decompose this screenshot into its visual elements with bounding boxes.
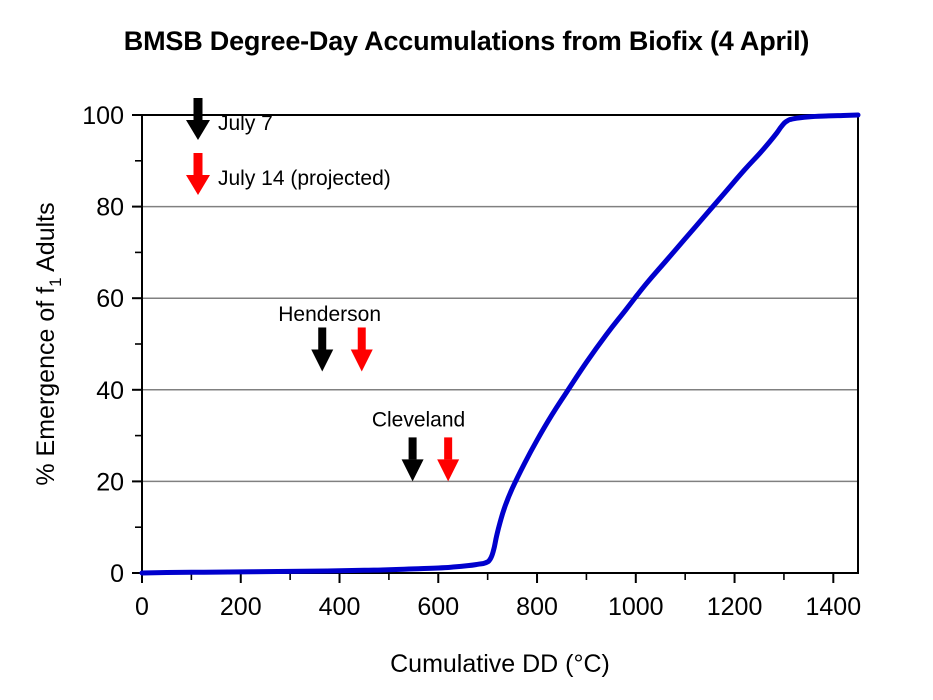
y-tick-label: 40: [96, 377, 124, 405]
x-tick-label: 1000: [608, 593, 664, 621]
annotation-arrow-henderson-red-shaft: [358, 327, 366, 349]
annotation-arrow-henderson-red-head: [351, 349, 373, 371]
y-tick-label: 0: [110, 560, 124, 588]
annotation-arrow-cleveland-black-shaft: [409, 437, 417, 459]
annotation-arrow-cleveland-black: [402, 437, 424, 481]
y-tick-label: 60: [96, 285, 124, 313]
legend-arrow-july-14-head: [186, 175, 210, 195]
y-axis-title: % Emergence of f1 Adults: [32, 202, 65, 485]
y-axis-title-post: Adults: [32, 202, 60, 277]
x-axis-ticks: [142, 573, 833, 583]
x-tick-label: 600: [417, 593, 459, 621]
y-tick-label: 80: [96, 194, 124, 222]
annotation-arrow-cleveland-black-head: [402, 459, 424, 481]
x-tick-label: 400: [319, 593, 361, 621]
y-axis-title-subscript: 1: [46, 277, 65, 286]
x-tick-label: 200: [220, 593, 262, 621]
legend-arrow-july-14: [186, 153, 210, 195]
y-tick-label: 100: [82, 102, 124, 130]
y-axis-title-pre: % Emergence of f: [32, 287, 60, 486]
legend-arrow-july-7-head: [186, 120, 210, 140]
gridlines: [142, 207, 858, 482]
annotation-arrow-henderson-black-head: [311, 349, 333, 371]
chart-container: BMSB Degree-Day Accumulations from Biofi…: [0, 0, 933, 700]
legend-arrow-july-7-shaft: [194, 98, 203, 120]
x-tick-label: 1400: [805, 593, 861, 621]
y-tick-label: 20: [96, 468, 124, 496]
annotation-arrow-henderson-black: [311, 327, 333, 371]
legend-label-july-7: July 7: [218, 112, 273, 135]
annotation-arrow-cleveland-red-head: [437, 459, 459, 481]
annotation-arrow-cleveland-red: [437, 437, 459, 481]
x-axis-tick-labels: 0200400600800100012001400: [135, 593, 861, 621]
x-axis-title: Cumulative DD (°C): [390, 650, 610, 678]
legend-arrow-july-14-shaft: [194, 153, 203, 175]
x-tick-label: 800: [516, 593, 558, 621]
y-axis-tick-labels: 020406080100: [82, 102, 124, 588]
annotation-arrow-cleveland-red-shaft: [444, 437, 452, 459]
x-tick-label: 1200: [707, 593, 763, 621]
legend-label-july-14: July 14 (projected): [218, 167, 391, 190]
annotation-arrow-henderson-black-shaft: [318, 327, 326, 349]
plot-svg: 0200400600800100012001400 020406080100 H…: [0, 0, 933, 700]
x-tick-label: 0: [135, 593, 149, 621]
y-axis-ticks: [132, 115, 142, 573]
annotation-label-henderson: Henderson: [278, 303, 381, 326]
chart-annotations: HendersonCleveland: [278, 303, 465, 481]
svg-text:% Emergence of f1 Adults: % Emergence of f1 Adults: [32, 202, 65, 485]
chart-legend: July 7July 14 (projected): [186, 98, 391, 195]
legend-arrow-july-7: [186, 98, 210, 140]
annotation-label-cleveland: Cleveland: [372, 408, 465, 431]
annotation-arrow-henderson-red: [351, 327, 373, 371]
